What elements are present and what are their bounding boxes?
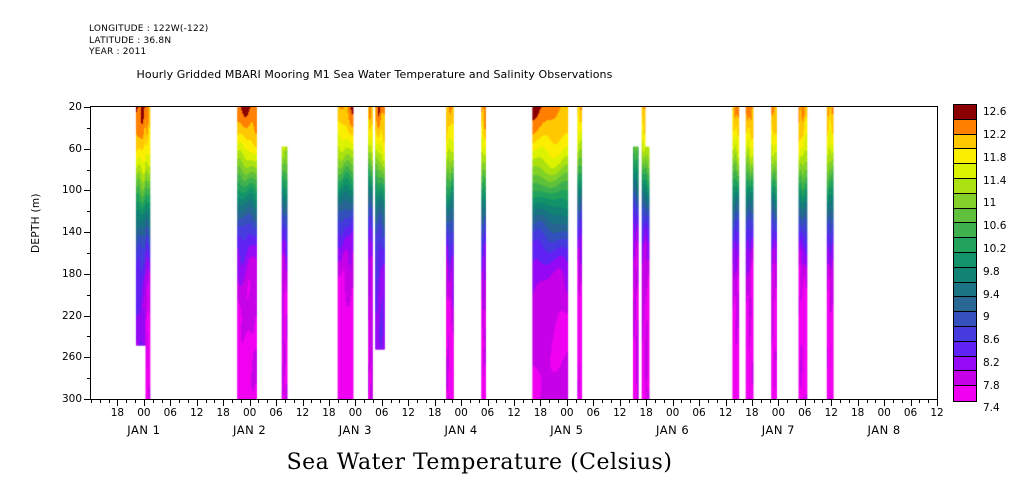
- colorbar-tick-label: 9.8: [983, 266, 1000, 278]
- x-axis-day-label: JAN 5: [550, 423, 583, 437]
- colorbar-tick-label: 11.4: [983, 175, 1006, 187]
- x-axis-hour-label: 12: [402, 407, 415, 419]
- colorbar-band: [954, 312, 976, 327]
- x-axis-hour-label: 12: [613, 407, 626, 419]
- x-axis-tick-minor: [91, 399, 92, 403]
- y-axis-tick-minor: [87, 378, 91, 379]
- x-axis-hour-label: 18: [428, 407, 441, 419]
- x-axis-tick-major: [329, 399, 330, 406]
- x-axis-tick-minor: [602, 399, 603, 403]
- x-axis-tick-minor: [867, 399, 868, 403]
- y-axis-label: 180: [62, 268, 82, 280]
- y-axis-label: 220: [62, 310, 82, 322]
- x-axis-tick-minor: [717, 399, 718, 403]
- y-axis-tick-minor: [87, 295, 91, 296]
- x-axis-tick-major: [805, 399, 806, 406]
- x-axis-tick-minor: [470, 399, 471, 403]
- x-axis-tick-minor: [294, 399, 295, 403]
- x-axis-tick-minor: [505, 399, 506, 403]
- y-axis-tick-major: [84, 399, 91, 400]
- x-axis-hour-label: 18: [111, 407, 124, 419]
- x-axis-tick-minor: [100, 399, 101, 403]
- x-axis-tick-minor: [267, 399, 268, 403]
- x-axis-tick-minor: [814, 399, 815, 403]
- x-axis-tick-major: [752, 399, 753, 406]
- x-axis-tick-minor: [849, 399, 850, 403]
- x-axis-hour-label: 12: [296, 407, 309, 419]
- x-axis-tick-minor: [347, 399, 348, 403]
- x-axis-tick-minor: [787, 399, 788, 403]
- x-axis-hour-label: 00: [877, 407, 890, 419]
- x-axis-tick-major: [223, 399, 224, 406]
- x-axis-tick-minor: [426, 399, 427, 403]
- x-axis-tick-minor: [690, 399, 691, 403]
- x-axis-tick-major: [461, 399, 462, 406]
- colorbar-band: [954, 135, 976, 150]
- y-axis-label: 140: [62, 226, 82, 238]
- x-axis-day-label: JAN 1: [127, 423, 160, 437]
- y-axis-label: 300: [62, 393, 82, 405]
- colorbar-band: [954, 164, 976, 179]
- x-axis-hour-label: 12: [190, 407, 203, 419]
- x-axis-tick-minor: [444, 399, 445, 403]
- x-axis-hour-label: 12: [825, 407, 838, 419]
- x-axis-tick-minor: [681, 399, 682, 403]
- x-axis-tick-minor: [708, 399, 709, 403]
- x-axis-tick-minor: [417, 399, 418, 403]
- colorbar-tick-label: 11: [983, 197, 996, 209]
- colorbar-band: [954, 105, 976, 120]
- x-axis-tick-major: [831, 399, 832, 406]
- x-axis-hour-label: 00: [560, 407, 573, 419]
- colorbar-band: [954, 179, 976, 194]
- colorbar-tick-label: 10.6: [983, 220, 1006, 232]
- x-axis-hour-label: 06: [904, 407, 917, 419]
- colorbar-band: [954, 371, 976, 386]
- x-axis-tick-minor: [338, 399, 339, 403]
- y-axis-tick-major: [84, 357, 91, 358]
- x-axis-hour-label: 06: [164, 407, 177, 419]
- colorbar-band: [954, 149, 976, 164]
- colorbar-band: [954, 120, 976, 135]
- y-axis-label: 100: [62, 184, 82, 196]
- y-axis-tick-minor: [87, 170, 91, 171]
- x-axis-tick-minor: [364, 399, 365, 403]
- x-axis-tick-minor: [822, 399, 823, 403]
- x-axis-day-label: JAN 7: [762, 423, 795, 437]
- plot-area: 2060100140180220260300180006121800061218…: [90, 106, 938, 400]
- x-axis-hour-label: 12: [719, 407, 732, 419]
- x-axis-tick-minor: [637, 399, 638, 403]
- x-axis-tick-major: [408, 399, 409, 406]
- colorbar-band: [954, 223, 976, 238]
- x-axis-hour-label: 00: [349, 407, 362, 419]
- colorbar: 12.612.211.811.41110.610.29.89.498.68.27…: [953, 104, 977, 402]
- x-axis-tick-minor: [135, 399, 136, 403]
- x-axis-hour-label: 18: [640, 407, 653, 419]
- y-axis-tick-major: [84, 190, 91, 191]
- x-axis-hour-label: 00: [666, 407, 679, 419]
- x-axis-tick-minor: [258, 399, 259, 403]
- x-axis-tick-minor: [109, 399, 110, 403]
- colorbar-band: [954, 357, 976, 372]
- x-axis-tick-minor: [320, 399, 321, 403]
- x-axis-tick-minor: [840, 399, 841, 403]
- x-axis-hour-label: 12: [507, 407, 520, 419]
- x-axis-tick-minor: [796, 399, 797, 403]
- x-axis-tick-major: [911, 399, 912, 406]
- colorbar-band: [954, 327, 976, 342]
- x-axis-tick-minor: [902, 399, 903, 403]
- y-axis-label: 260: [62, 351, 82, 363]
- x-axis-hour-label: 06: [375, 407, 388, 419]
- x-axis-hour-label: 18: [217, 407, 230, 419]
- y-axis-tick-major: [84, 232, 91, 233]
- colorbar-tick-label: 7.4: [983, 402, 1000, 414]
- x-axis-tick-major: [382, 399, 383, 406]
- x-axis-hour-label: 18: [534, 407, 547, 419]
- x-axis-tick-minor: [919, 399, 920, 403]
- x-axis-tick-major: [593, 399, 594, 406]
- x-axis-tick-major: [778, 399, 779, 406]
- x-axis-tick-minor: [761, 399, 762, 403]
- x-axis-tick-minor: [232, 399, 233, 403]
- x-axis-tick-minor: [373, 399, 374, 403]
- x-axis-tick-major: [514, 399, 515, 406]
- x-axis-hour-label: 00: [772, 407, 785, 419]
- x-axis-day-label: JAN 6: [656, 423, 689, 437]
- x-axis-tick-minor: [743, 399, 744, 403]
- y-axis-tick-major: [84, 274, 91, 275]
- x-axis-tick-minor: [153, 399, 154, 403]
- x-axis-tick-minor: [655, 399, 656, 403]
- x-axis-day-label: JAN 8: [868, 423, 901, 437]
- x-axis-day-label: JAN 3: [339, 423, 372, 437]
- y-axis-tick-minor: [87, 128, 91, 129]
- x-axis-tick-major: [646, 399, 647, 406]
- x-axis-hour-label: 00: [137, 407, 150, 419]
- x-axis-tick-minor: [126, 399, 127, 403]
- x-axis-tick-major: [699, 399, 700, 406]
- colorbar-band: [954, 238, 976, 253]
- x-axis-hour-label: 00: [454, 407, 467, 419]
- longitude-label: LONGITUDE : 122W(-122): [89, 24, 209, 36]
- colorbar-band: [954, 386, 976, 401]
- x-axis-tick-minor: [770, 399, 771, 403]
- x-axis-tick-minor: [188, 399, 189, 403]
- y-axis-tick-major: [84, 107, 91, 108]
- x-axis-hour-label: 06: [587, 407, 600, 419]
- colorbar-band: [954, 209, 976, 224]
- x-axis-tick-minor: [576, 399, 577, 403]
- x-axis-tick-minor: [734, 399, 735, 403]
- colorbar-band: [954, 194, 976, 209]
- x-axis-tick-minor: [452, 399, 453, 403]
- x-axis-tick-minor: [285, 399, 286, 403]
- x-axis-hour-label: 00: [243, 407, 256, 419]
- x-axis-tick-minor: [206, 399, 207, 403]
- y-axis-tick-major: [84, 149, 91, 150]
- colorbar-tick-label: 12.6: [983, 106, 1006, 118]
- colorbar-band: [954, 297, 976, 312]
- x-axis-tick-major: [355, 399, 356, 406]
- colorbar-tick-label: 9: [983, 311, 990, 323]
- y-axis-title: DEPTH (m): [30, 193, 42, 253]
- x-axis-tick-major: [540, 399, 541, 406]
- x-axis-tick-minor: [875, 399, 876, 403]
- colorbar-tick-label: 9.4: [983, 289, 1000, 301]
- x-axis-tick-major: [488, 399, 489, 406]
- y-axis-tick-minor: [87, 336, 91, 337]
- colorbar-tick-label: 12.2: [983, 129, 1006, 141]
- colorbar-tick-label: 8.2: [983, 357, 1000, 369]
- x-axis-tick-major: [858, 399, 859, 406]
- x-axis-tick-minor: [585, 399, 586, 403]
- y-axis-label: 60: [69, 143, 82, 155]
- x-axis-tick-major: [250, 399, 251, 406]
- x-axis-hour-label: 18: [745, 407, 758, 419]
- x-axis-tick-minor: [496, 399, 497, 403]
- x-axis-tick-minor: [391, 399, 392, 403]
- x-axis-tick-minor: [311, 399, 312, 403]
- station-metadata: LONGITUDE : 122W(-122) LATITUDE : 36.8N …: [89, 24, 209, 59]
- x-axis-tick-minor: [241, 399, 242, 403]
- x-axis-day-label: JAN 4: [445, 423, 478, 437]
- x-axis-hour-label: 06: [692, 407, 705, 419]
- x-axis-tick-minor: [611, 399, 612, 403]
- x-axis-tick-minor: [928, 399, 929, 403]
- colorbar-tick-label: 10.2: [983, 243, 1006, 255]
- x-axis-hour-label: 06: [798, 407, 811, 419]
- x-axis-tick-major: [567, 399, 568, 406]
- x-axis-tick-major: [197, 399, 198, 406]
- x-axis-hour-label: 12: [930, 407, 943, 419]
- colorbar-tick-label: 8.6: [983, 334, 1000, 346]
- x-axis-tick-major: [303, 399, 304, 406]
- latitude-label: LATITUDE : 36.8N: [89, 36, 209, 48]
- x-axis-tick-major: [884, 399, 885, 406]
- y-axis-tick-minor: [87, 211, 91, 212]
- colorbar-tick-label: 7.8: [983, 380, 1000, 392]
- y-axis-label: 20: [69, 101, 82, 113]
- x-axis-tick-minor: [893, 399, 894, 403]
- bottom-axis-title: Sea Water Temperature (Celsius): [0, 450, 1009, 475]
- x-axis-tick-major: [620, 399, 621, 406]
- x-axis-tick-major: [937, 399, 938, 406]
- x-axis-tick-minor: [162, 399, 163, 403]
- x-axis-tick-major: [117, 399, 118, 406]
- colorbar-band: [954, 253, 976, 268]
- x-axis-tick-major: [435, 399, 436, 406]
- colorbar-tick-label: 11.8: [983, 152, 1006, 164]
- temperature-contour-canvas: [91, 107, 937, 399]
- colorbar-band: [954, 283, 976, 298]
- chart-title: Hourly Gridded MBARI Mooring M1 Sea Wate…: [0, 68, 1009, 81]
- year-label: YEAR : 2011: [89, 47, 209, 59]
- x-axis-tick-major: [144, 399, 145, 406]
- x-axis-tick-major: [726, 399, 727, 406]
- x-axis-tick-minor: [558, 399, 559, 403]
- colorbar-band: [954, 342, 976, 357]
- colorbar-band: [954, 268, 976, 283]
- x-axis-tick-minor: [523, 399, 524, 403]
- x-axis-hour-label: 06: [481, 407, 494, 419]
- x-axis-tick-minor: [664, 399, 665, 403]
- x-axis-hour-label: 18: [851, 407, 864, 419]
- y-axis-tick-major: [84, 316, 91, 317]
- x-axis-hour-label: 18: [322, 407, 335, 419]
- x-axis-tick-minor: [532, 399, 533, 403]
- x-axis-tick-minor: [479, 399, 480, 403]
- x-axis-tick-minor: [179, 399, 180, 403]
- x-axis-tick-minor: [549, 399, 550, 403]
- x-axis-tick-major: [673, 399, 674, 406]
- x-axis-tick-major: [276, 399, 277, 406]
- y-axis-tick-minor: [87, 253, 91, 254]
- x-axis-tick-major: [170, 399, 171, 406]
- x-axis-hour-label: 06: [269, 407, 282, 419]
- x-axis-tick-minor: [399, 399, 400, 403]
- x-axis-tick-minor: [629, 399, 630, 403]
- x-axis-day-label: JAN 2: [233, 423, 266, 437]
- x-axis-tick-minor: [214, 399, 215, 403]
